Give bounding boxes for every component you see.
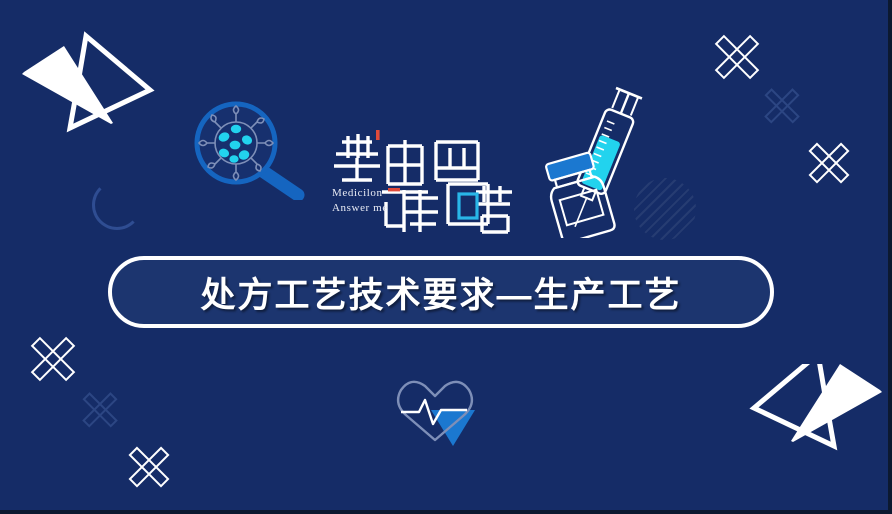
x-mark-top-right-1 — [712, 32, 762, 82]
logo-accent-bar — [388, 188, 400, 191]
slide-canvas: Medicilon Answer me 处方工艺技术要求—生产工艺 — [0, 0, 892, 514]
logo-chinese-mark — [326, 128, 516, 238]
magnifier-virus-icon — [186, 96, 316, 200]
logo-english-text: Medicilon Answer me — [332, 186, 388, 216]
triangle-pair-bottom-right — [744, 364, 892, 484]
triangle-pair-top-left — [8, 28, 158, 148]
logo-block: Medicilon Answer me — [326, 128, 516, 238]
x-mark-top-right-3 — [806, 140, 852, 186]
arc-decoration — [92, 180, 142, 230]
x-mark-bottom-left-3 — [126, 444, 172, 490]
x-mark-bottom-left-2 — [80, 390, 120, 430]
syringe-vial-icon — [540, 82, 666, 238]
x-mark-top-right-2 — [762, 86, 802, 126]
logo-accent-square — [459, 194, 477, 218]
logo-accent-tick — [376, 130, 380, 140]
title-pill: 处方工艺技术要求—生产工艺 — [108, 256, 774, 328]
x-mark-bottom-left-1 — [28, 334, 78, 384]
right-edge-strip — [888, 0, 892, 514]
bottom-edge-strip — [0, 510, 892, 514]
page-title: 处方工艺技术要求—生产工艺 — [200, 267, 681, 318]
heartbeat-icon — [383, 372, 487, 448]
